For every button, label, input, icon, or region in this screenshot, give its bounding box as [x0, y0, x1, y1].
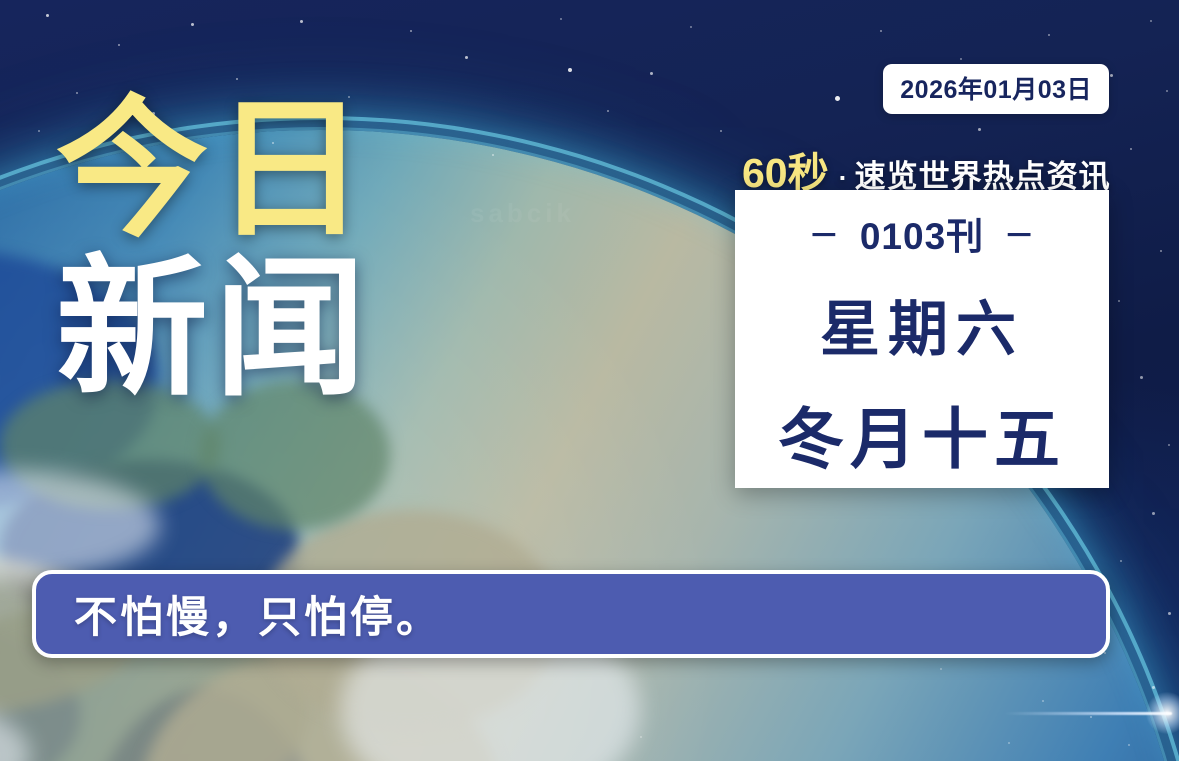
weekday-label: 星期六	[820, 281, 1024, 368]
issue-dash-left: －	[809, 211, 840, 255]
issue-info-card: － 0103刊 － 星期六 冬月十五	[735, 190, 1109, 488]
issue-row: － 0103刊 －	[809, 206, 1035, 260]
news-poster: sabcik 今日 新闻 2026年01月03日 60秒 · 速览世界热点资讯 …	[0, 0, 1179, 761]
lunar-date-label: 冬月十五	[778, 386, 1066, 482]
poster-title: 今日 新闻	[56, 96, 372, 404]
watermark-text: sabcik	[470, 198, 575, 229]
title-line-today: 今日	[56, 96, 372, 245]
quote-text: 不怕慢，只怕停。	[74, 583, 442, 645]
title-line-news: 新闻	[56, 255, 372, 404]
date-badge: 2026年01月03日	[883, 64, 1109, 114]
issue-dash-right: －	[1004, 211, 1035, 255]
quote-banner: 不怕慢，只怕停。	[32, 570, 1110, 658]
issue-number: 0103刊	[860, 206, 984, 260]
